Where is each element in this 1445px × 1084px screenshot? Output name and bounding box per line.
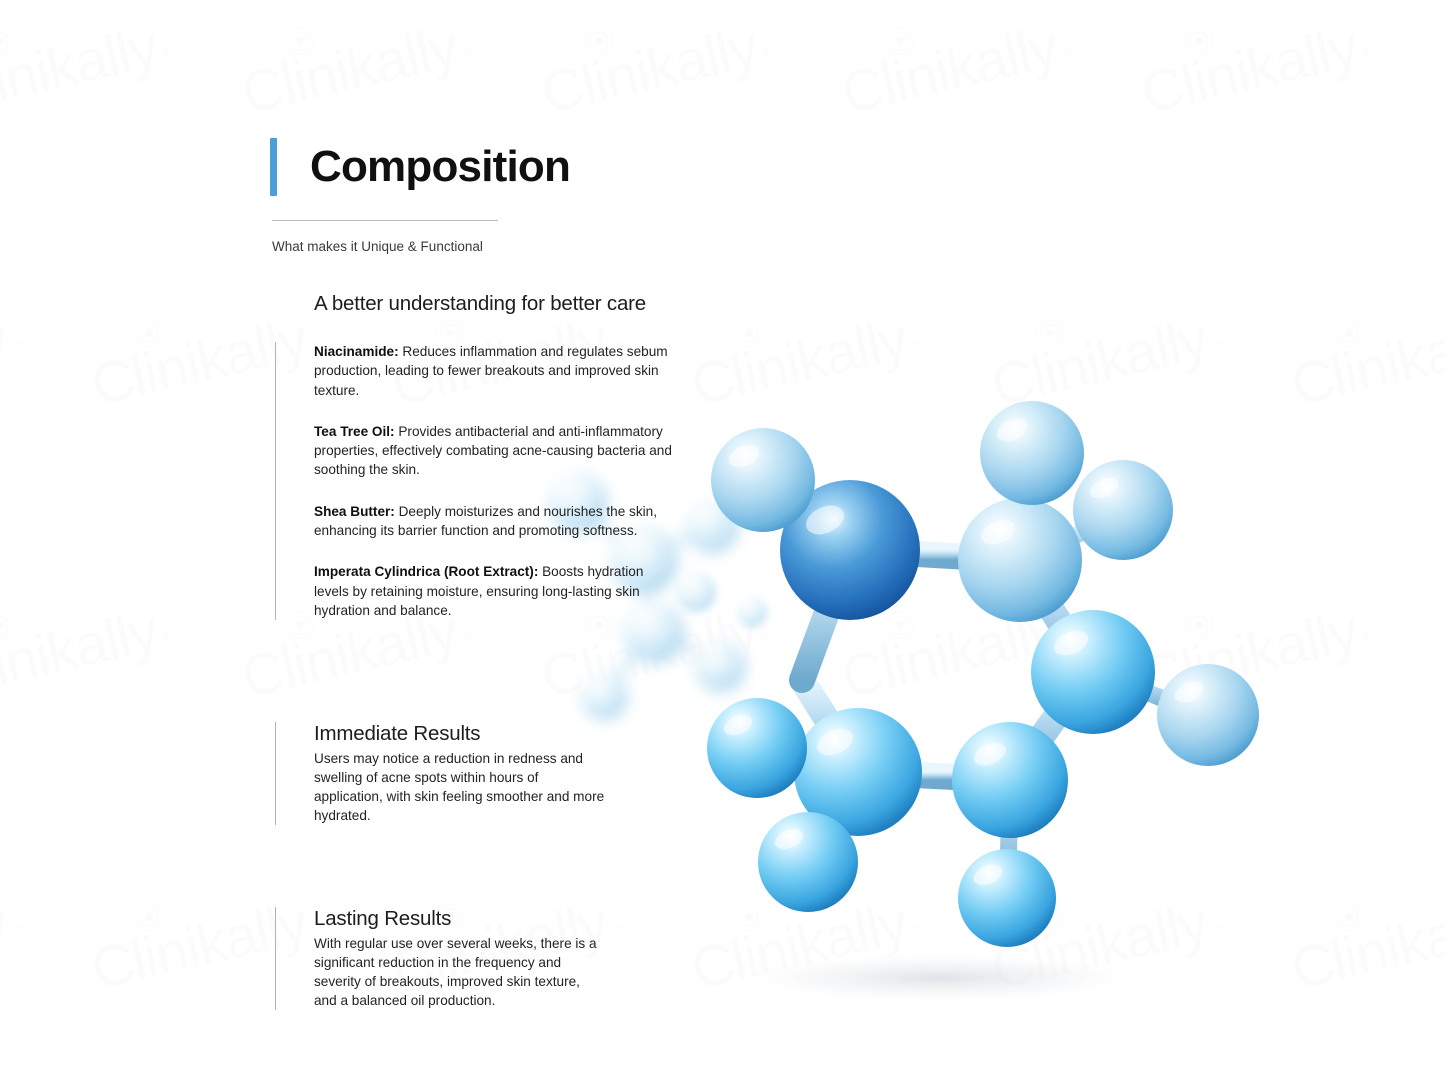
section-lede: A better understanding for better care <box>314 292 675 316</box>
lasting-rule-wrap: Lasting Results With regular use over se… <box>275 907 605 1010</box>
title-row: Composition <box>270 138 570 196</box>
title-accent-bar <box>270 138 277 196</box>
slide-canvas: Clinikally®Clinikally®Clinikally®Clinika… <box>0 0 1445 1084</box>
title-divider <box>272 220 498 221</box>
immediate-rule-wrap: Immediate Results Users may notice a red… <box>275 722 605 825</box>
ingredient-name: Imperata Cylindrica (Root Extract): <box>314 564 538 579</box>
title-block: Composition What makes it Unique & Funct… <box>270 138 570 196</box>
slide-content: Composition What makes it Unique & Funct… <box>0 0 1445 1084</box>
ingredients-rule-wrap: Niacinamide: Reduces inflammation and re… <box>275 342 675 620</box>
ingredient-name: Tea Tree Oil: <box>314 424 395 439</box>
lasting-vertical-rule <box>275 907 276 1010</box>
immediate-vertical-rule <box>275 722 276 825</box>
immediate-results-section: Immediate Results Users may notice a red… <box>275 722 605 825</box>
list-item: Niacinamide: Reduces inflammation and re… <box>314 342 675 400</box>
immediate-body-wrap: Immediate Results Users may notice a red… <box>275 722 605 825</box>
ingredients-vertical-rule <box>275 342 276 620</box>
ingredients-section: A better understanding for better care N… <box>275 292 675 620</box>
immediate-results-body: Users may notice a reduction in redness … <box>314 749 605 825</box>
lasting-results-body: With regular use over several weeks, the… <box>314 934 605 1010</box>
list-item: Shea Butter: Deeply moisturizes and nour… <box>314 502 675 541</box>
page-subtitle: What makes it Unique & Functional <box>272 239 483 254</box>
list-item: Imperata Cylindrica (Root Extract): Boos… <box>314 562 675 620</box>
lasting-results-heading: Lasting Results <box>314 907 605 931</box>
immediate-results-heading: Immediate Results <box>314 722 605 746</box>
ingredient-name: Shea Butter: <box>314 504 395 519</box>
ingredients-list: Niacinamide: Reduces inflammation and re… <box>275 342 675 620</box>
page-title: Composition <box>310 145 570 189</box>
list-item: Tea Tree Oil: Provides antibacterial and… <box>314 422 675 480</box>
ingredient-name: Niacinamide: <box>314 344 399 359</box>
lasting-results-section: Lasting Results With regular use over se… <box>275 907 605 1010</box>
lasting-body-wrap: Lasting Results With regular use over se… <box>275 907 605 1010</box>
